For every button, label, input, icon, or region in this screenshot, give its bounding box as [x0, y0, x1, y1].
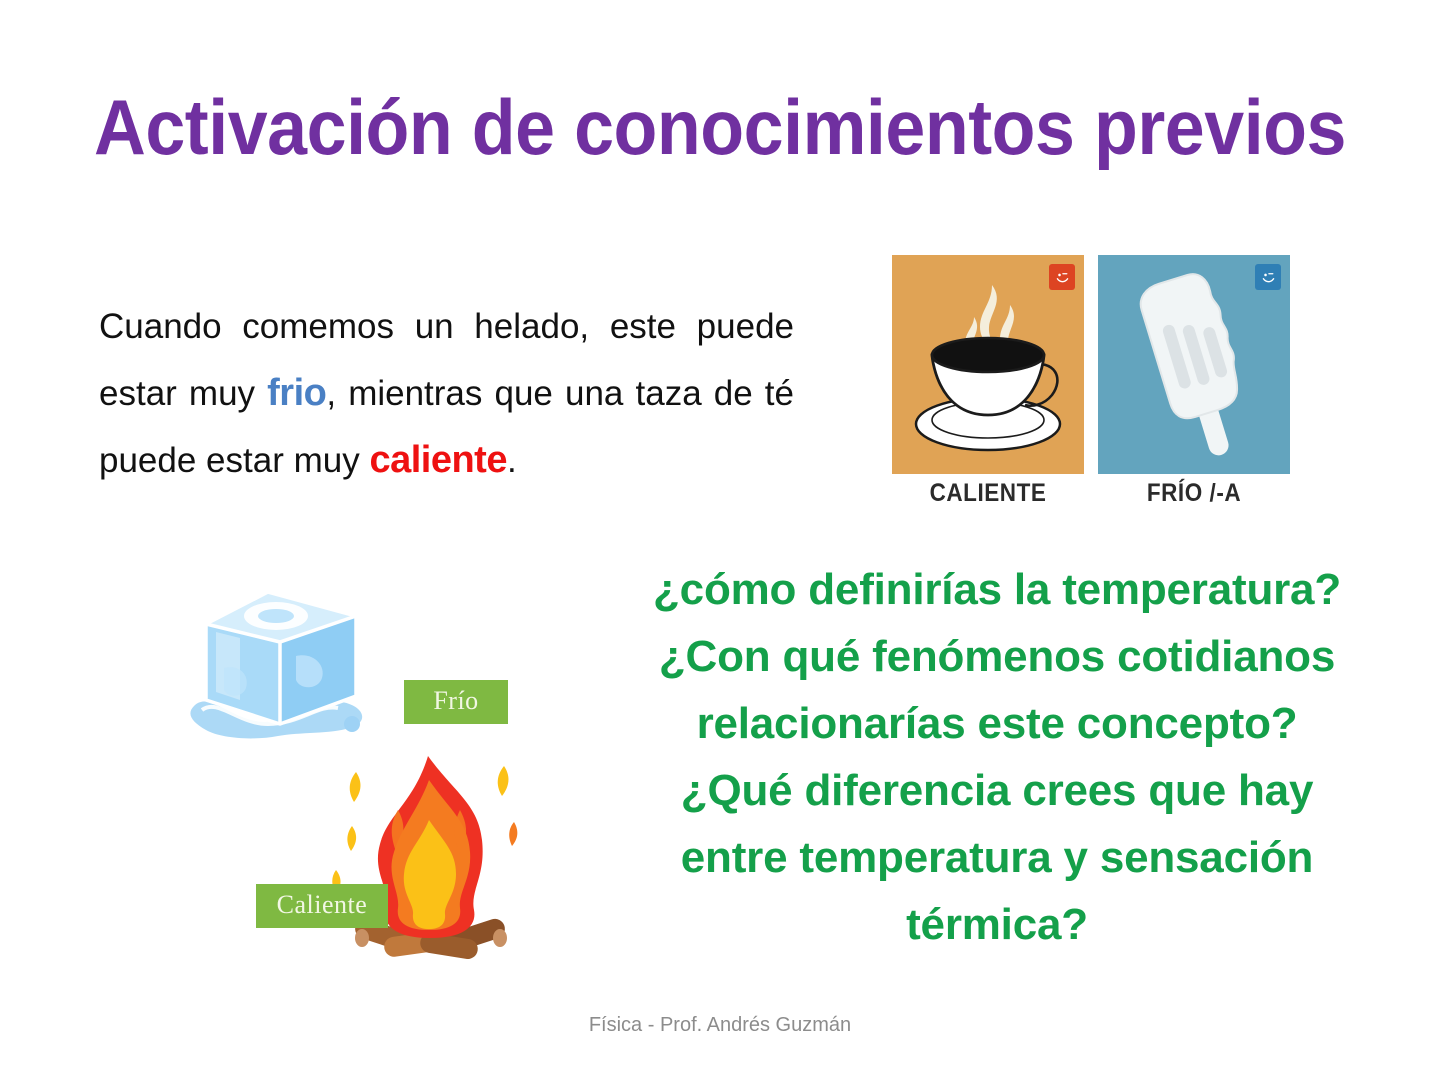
- smiley-icon: [1255, 264, 1281, 290]
- compare-cards: CALIENTE FRÍO /-A: [890, 255, 1294, 515]
- keyword-frio: frio: [267, 372, 326, 414]
- smiley-icon: [1049, 264, 1075, 290]
- compare-card-cold: [1098, 255, 1290, 474]
- campfire-icon: [328, 748, 533, 973]
- keyword-caliente: caliente: [369, 439, 507, 481]
- compare-card-hot: [892, 255, 1084, 474]
- page-title: Activación de conocimientos previos: [58, 84, 1383, 170]
- slide-footer: Física - Prof. Andrés Guzmán: [0, 1014, 1440, 1037]
- discussion-questions: ¿cómo definirías la temperatura? ¿Con qu…: [636, 556, 1358, 958]
- label-frio: Frío: [404, 680, 508, 724]
- intro-text-part3: .: [507, 441, 517, 480]
- thermo-illustration: Frío Caliente: [180, 572, 600, 972]
- label-caliente: Caliente: [256, 884, 388, 928]
- intro-paragraph: Cuando comemos un helado, este puede est…: [99, 293, 794, 494]
- melting-ice-cube-icon: [180, 572, 410, 757]
- compare-card-hot-caption: CALIENTE: [902, 479, 1075, 508]
- compare-card-cold-caption: FRÍO /-A: [1108, 479, 1281, 508]
